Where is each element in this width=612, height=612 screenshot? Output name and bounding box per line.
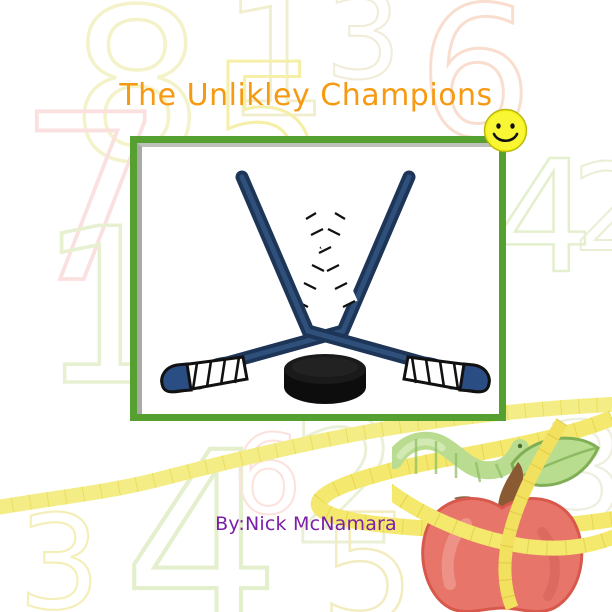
smiley-face-icon bbox=[483, 108, 528, 153]
background-number: 1 bbox=[222, 0, 330, 142]
author-byline: By:Nick McNamara bbox=[0, 513, 612, 535]
cover-picture-frame bbox=[130, 136, 506, 421]
picture-frame-inner bbox=[137, 143, 499, 414]
background-number: 2 bbox=[572, 150, 612, 270]
hockey-puck-icon bbox=[284, 354, 366, 404]
worm-icon bbox=[394, 439, 522, 482]
background-number: 2 bbox=[290, 395, 401, 570]
apple-icon bbox=[392, 412, 612, 612]
background-number: 4 bbox=[495, 140, 594, 295]
apple-leaf-icon bbox=[512, 438, 598, 485]
hockey-sticks-illustration bbox=[147, 151, 504, 418]
book-cover-page: 8 7 1 1 5 3 6 4 4 2 6 3 5 3 2 bbox=[0, 0, 612, 612]
